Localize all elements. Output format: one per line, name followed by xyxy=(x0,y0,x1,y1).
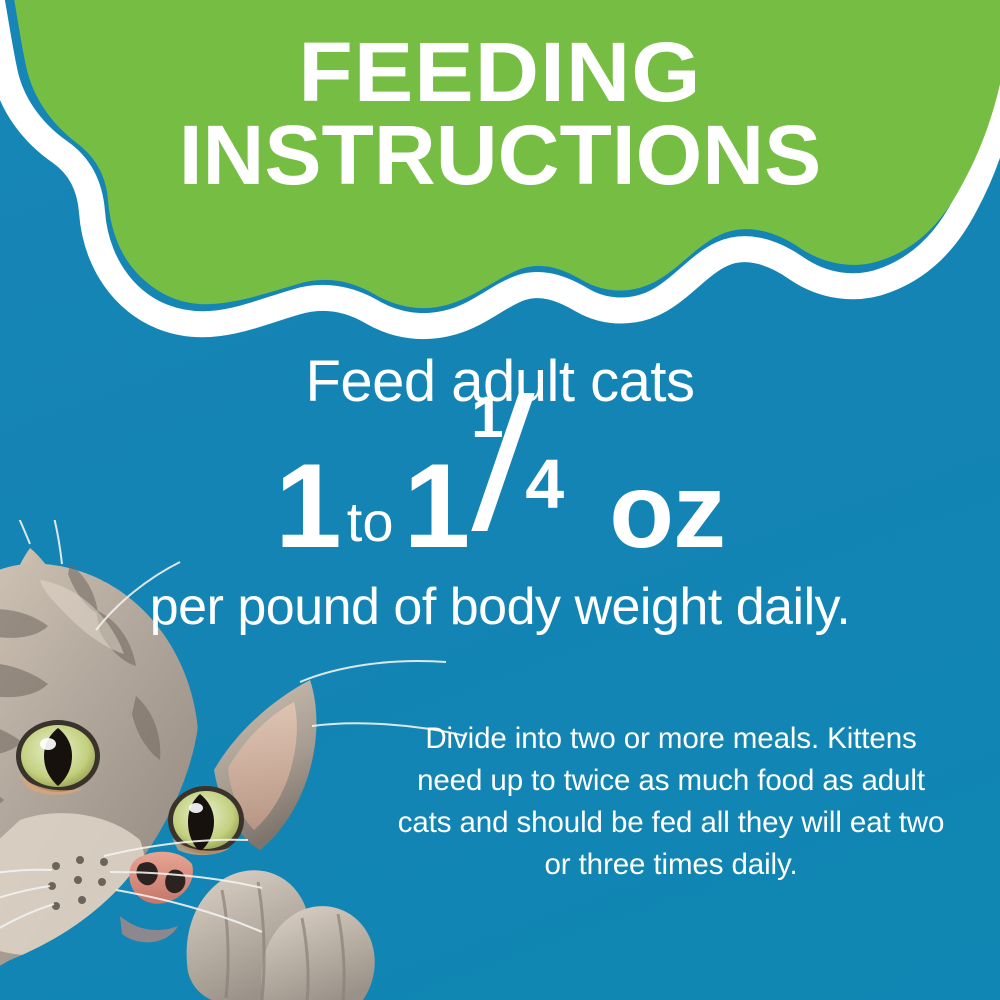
amount-connector: to xyxy=(341,490,404,553)
fraction-denominator: 4 xyxy=(525,449,563,519)
banner-cloud-shape xyxy=(0,0,1000,360)
tail-text: per pound of body weight daily. xyxy=(0,580,1000,635)
feeding-instructions-panel: FEEDING INSTRUCTIONS Feed adult cats 1to… xyxy=(0,0,1000,1000)
amount-high-whole: 1 xyxy=(403,439,469,573)
feeding-copy: Feed adult cats 1to114oz per pound of bo… xyxy=(0,352,1000,634)
note-text: Divide into two or more meals. Kittens n… xyxy=(390,718,952,886)
amount-unit: oz xyxy=(591,452,725,570)
amount-low: 1 xyxy=(275,439,341,573)
feeding-amount: 1to114oz xyxy=(0,427,1000,566)
fraction-numerator: 1 xyxy=(471,389,502,447)
amount-fraction: 14 xyxy=(469,427,591,547)
